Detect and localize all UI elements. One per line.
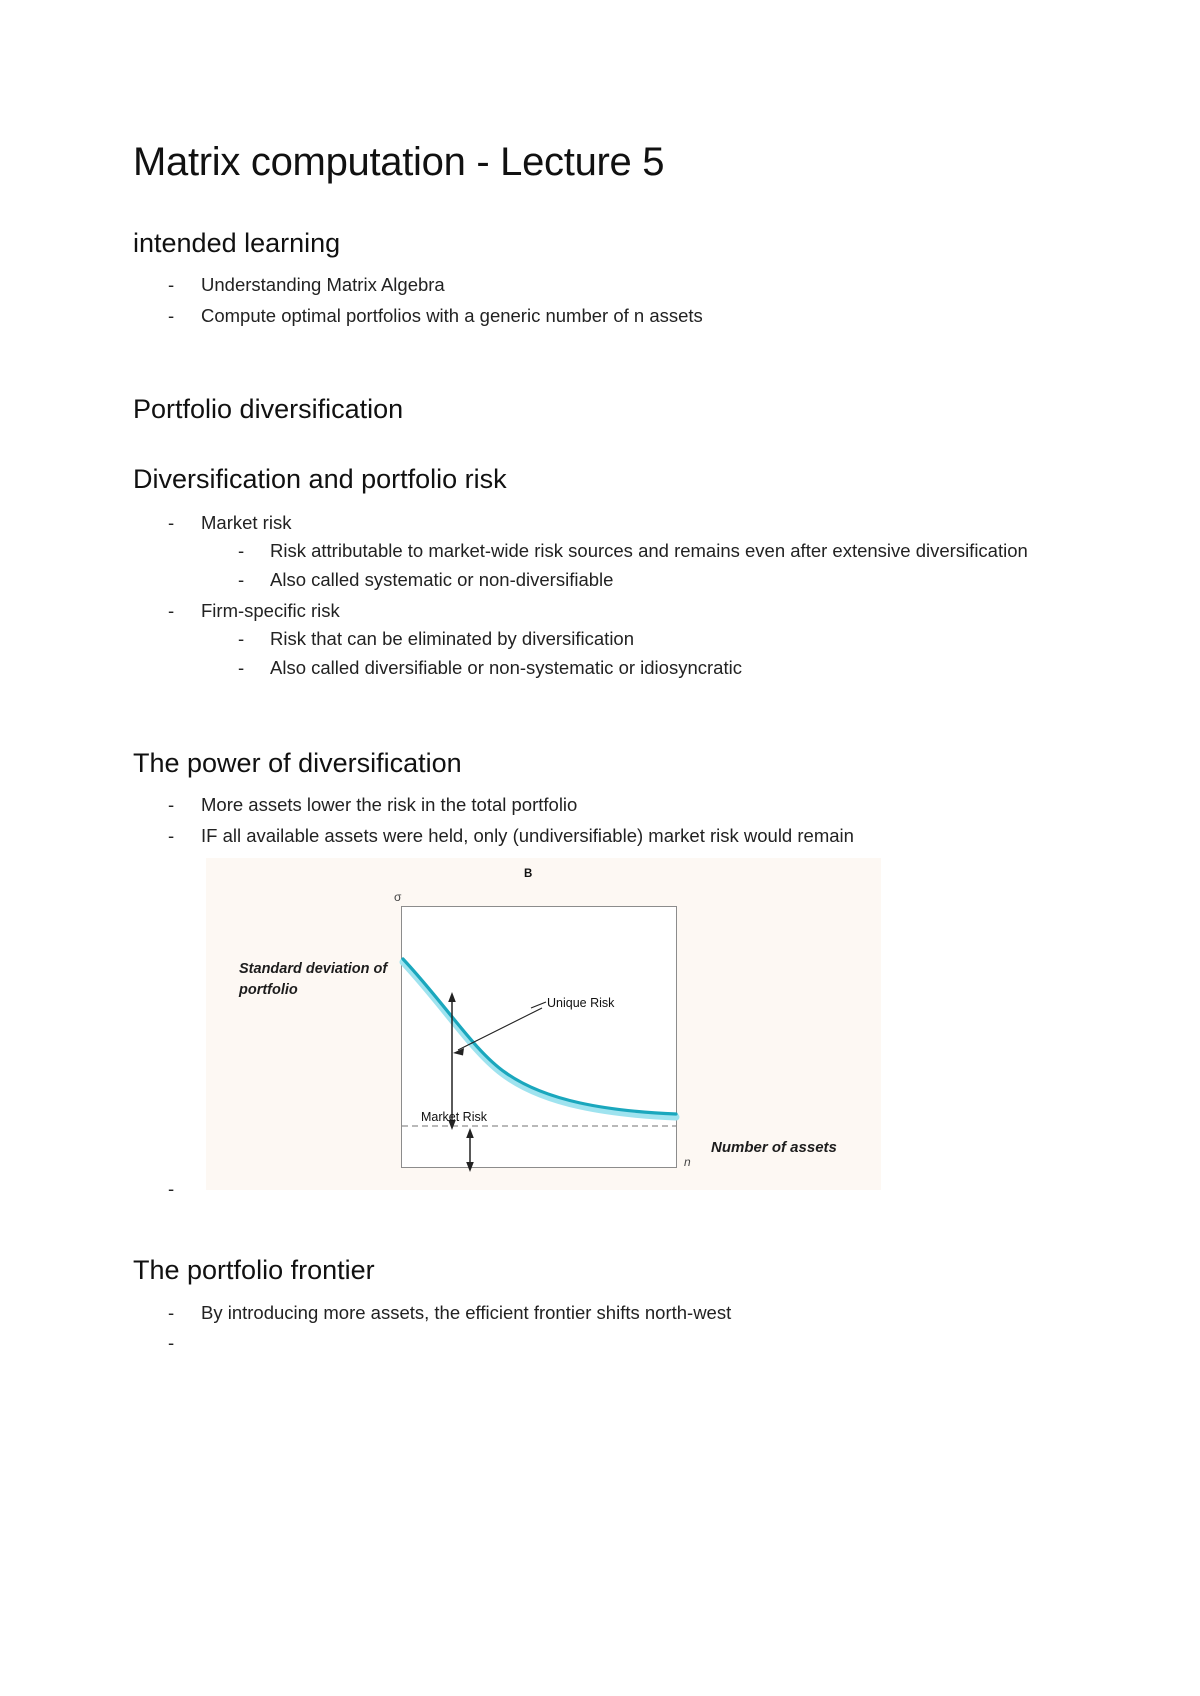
sub-bullet-list-market-risk: - Risk attributable to market-wide risk … — [201, 537, 1073, 594]
bullet-dash-icon: - — [168, 822, 174, 851]
section-heading-portfolio-frontier: The portfolio frontier — [133, 1254, 1073, 1286]
page-title: Matrix computation - Lecture 5 — [133, 0, 1073, 185]
list-item-label: More assets lower the risk in the total … — [201, 794, 577, 815]
sub-bullet-list-firm-specific-risk: - Risk that can be eliminated by diversi… — [201, 625, 1073, 682]
unique-risk-pointer-shaft — [458, 1008, 542, 1050]
list-item-label: By introducing more assets, the efficien… — [201, 1302, 731, 1323]
list-item: - By introducing more assets, the effici… — [133, 1299, 1073, 1328]
list-item: - More assets lower the risk in the tota… — [133, 791, 1073, 820]
bullet-dash-icon: - — [238, 625, 244, 654]
x-axis-symbol: n — [684, 1155, 691, 1169]
bullet-dash-icon: - — [168, 1299, 174, 1328]
list-item-label: Firm-specific risk — [201, 600, 340, 621]
list-item: - Also called systematic or non-diversif… — [201, 566, 1073, 595]
bullet-list-portfolio-frontier: - By introducing more assets, the effici… — [133, 1299, 1073, 1328]
bullet-dash-icon: - — [238, 537, 244, 566]
section-heading-portfolio-diversification: Portfolio diversification — [133, 393, 1073, 425]
bullet-dash-icon: - — [168, 1329, 174, 1358]
bullet-list-diversification-risk: - Market risk - Risk attributable to mar… — [133, 509, 1073, 683]
bullet-list-power-of-diversification: - More assets lower the risk in the tota… — [133, 791, 1073, 850]
list-item: - Risk attributable to market-wide risk … — [201, 537, 1073, 566]
list-item-label: Understanding Matrix Algebra — [201, 274, 445, 295]
section-heading-intended-learning: intended learning — [133, 227, 1073, 259]
bullet-dash-icon: - — [238, 566, 244, 595]
list-item: - Firm-specific risk - Risk that can be … — [133, 597, 1073, 683]
bullet-dash-icon: - — [168, 271, 174, 300]
chart-inner: B σ — [206, 858, 881, 1190]
bullet-dash-icon: - — [168, 597, 174, 626]
x-axis-label: Number of assets — [711, 1139, 837, 1156]
list-item-label: Compute optimal portfolios with a generi… — [201, 305, 703, 326]
unique-risk-arrow-head-up — [448, 992, 456, 1002]
diversification-chart: B σ — [206, 858, 881, 1190]
unique-risk-leader — [531, 1002, 546, 1008]
y-axis-label: Standard deviation of portfolio — [239, 959, 399, 1001]
list-item-label: Also called systematic or non-diversifia… — [270, 569, 613, 590]
unique-risk-pointer-head — [453, 1048, 464, 1056]
document-content: Matrix computation - Lecture 5 intended … — [133, 0, 1073, 1329]
list-item: - Compute optimal portfolios with a gene… — [133, 302, 1073, 331]
bullet-dash-icon: - — [238, 654, 244, 683]
section-heading-diversification-and-portfolio-risk: Diversification and portfolio risk — [133, 463, 1073, 495]
bullet-dash-icon: - — [168, 509, 174, 538]
list-item: - Also called diversifiable or non-syste… — [201, 654, 1073, 683]
list-item-label: IF all available assets were held, only … — [201, 825, 854, 846]
market-risk-arrow-head-up — [466, 1128, 474, 1138]
market-risk-arrow-head-down — [466, 1162, 474, 1172]
bullet-dash-icon: - — [168, 1178, 174, 1200]
list-item: - IF all available assets were held, onl… — [133, 822, 1073, 851]
list-item-label: Risk attributable to market-wide risk so… — [270, 540, 1028, 561]
list-item: - Market risk - Risk attributable to mar… — [133, 509, 1073, 595]
bullet-dash-icon: - — [168, 302, 174, 331]
list-item-label: Risk that can be eliminated by diversifi… — [270, 628, 634, 649]
document-page: Matrix computation - Lecture 5 intended … — [0, 0, 1200, 1696]
list-item: - Understanding Matrix Algebra — [133, 271, 1073, 300]
risk-curve — [403, 959, 676, 1114]
figure-bullet-row: - B σ — [133, 858, 1073, 1190]
risk-curve-glow — [403, 962, 676, 1117]
unique-risk-label: Unique Risk — [547, 996, 614, 1010]
section-heading-power-of-diversification: The power of diversification — [133, 747, 1073, 779]
list-item-label: Market risk — [201, 512, 291, 533]
market-risk-label: Market Risk — [421, 1110, 487, 1124]
bullet-dash-icon: - — [168, 791, 174, 820]
bullet-list-intended-learning: - Understanding Matrix Algebra - Compute… — [133, 271, 1073, 330]
list-item-label: Also called diversifiable or non-systema… — [270, 657, 742, 678]
list-item: - Risk that can be eliminated by diversi… — [201, 625, 1073, 654]
